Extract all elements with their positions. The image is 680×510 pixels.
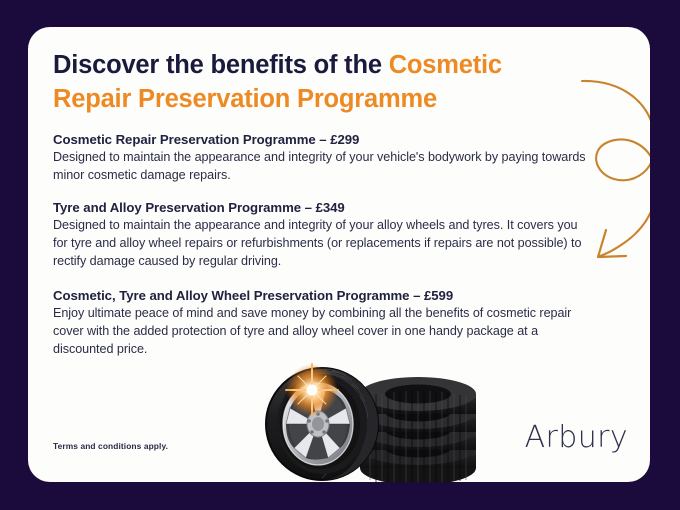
programme-title: Cosmetic Repair Preservation Programme –… <box>53 132 588 147</box>
programme-description: Designed to maintain the appearance and … <box>53 149 588 185</box>
programme-block-cosmetic: Cosmetic Repair Preservation Programme –… <box>53 132 588 185</box>
page-title: Discover the benefits of the Cosmetic Re… <box>53 49 573 117</box>
brand-logo: Arbury <box>525 420 628 455</box>
programme-description: Enjoy ultimate peace of mind and save mo… <box>53 305 588 359</box>
terms-and-conditions-text: Terms and conditions apply. <box>53 441 168 451</box>
programme-title: Cosmetic, Tyre and Alloy Wheel Preservat… <box>53 288 588 303</box>
programme-description: Designed to maintain the appearance and … <box>53 217 588 271</box>
content-card: Discover the benefits of the Cosmetic Re… <box>28 27 650 482</box>
programme-title: Tyre and Alloy Preservation Programme – … <box>53 200 588 215</box>
programme-block-tyre-alloy: Tyre and Alloy Preservation Programme – … <box>53 200 588 271</box>
poster-canvas: Discover the benefits of the Cosmetic Re… <box>0 0 680 510</box>
programme-block-combined: Cosmetic, Tyre and Alloy Wheel Preservat… <box>53 288 588 359</box>
page-title-plain: Discover the benefits of the <box>53 51 389 79</box>
tyre-stack-image <box>250 360 480 482</box>
